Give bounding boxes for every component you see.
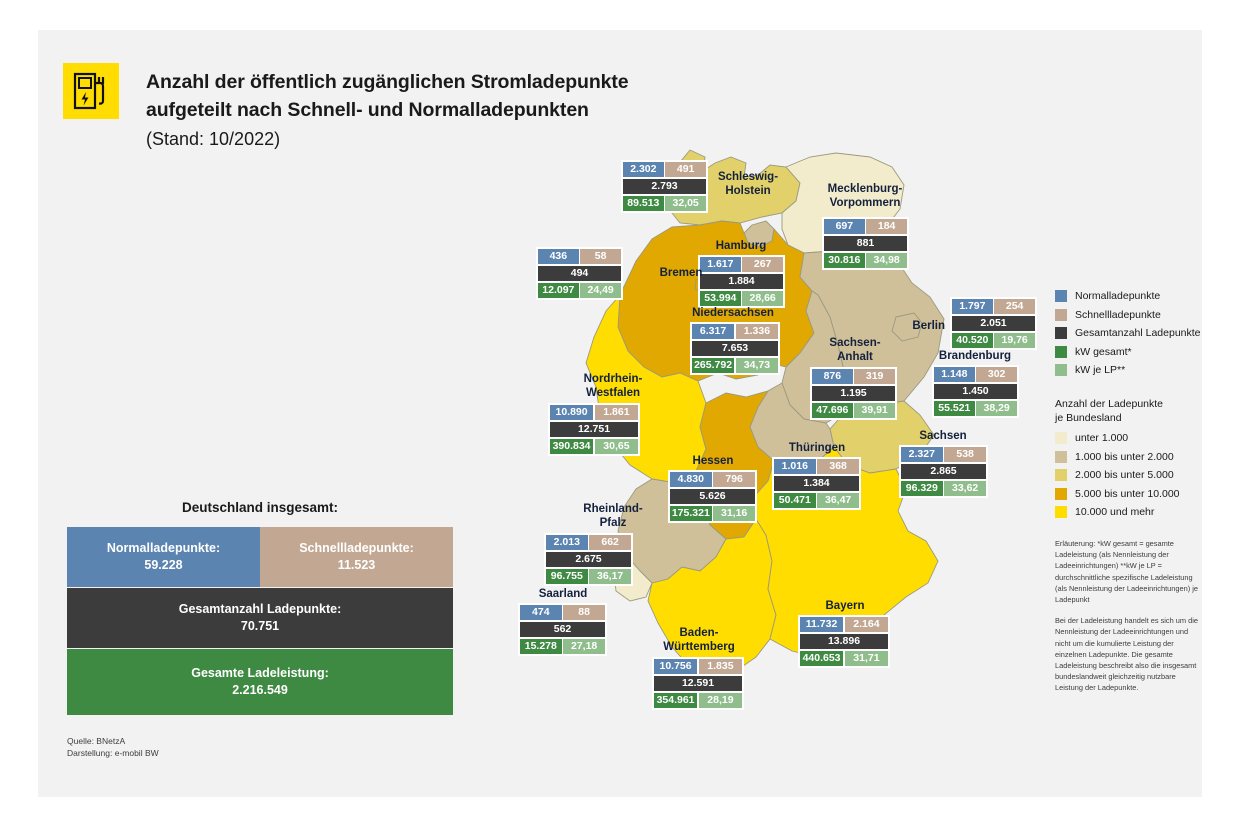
legend-swatch-normal xyxy=(1055,290,1067,302)
total-schnell-label: Schnellladepunkte: xyxy=(264,540,449,557)
value-kw-je-lp: 19,76 xyxy=(994,333,1035,348)
value-kw-gesamt: 354.961 xyxy=(654,693,697,708)
value-kw-gesamt: 96.755 xyxy=(546,569,588,584)
value-gesamt: 494 xyxy=(538,266,621,281)
state-values-hb: 43658 494 12.09724,49 xyxy=(536,247,623,300)
state-label-ni: Niedersachsen xyxy=(668,307,798,321)
value-kw-gesamt: 55.521 xyxy=(934,401,975,416)
total-gesamtanzahl: Gesamtanzahl Ladepunkte: 70.751 xyxy=(67,588,453,648)
legend-series: Normalladepunkte Schnellladepunkte Gesam… xyxy=(1055,290,1205,383)
value-schnell: 2.164 xyxy=(845,617,888,632)
legend-class-5000-10000: 5.000 bis unter 10.000 xyxy=(1055,488,1210,500)
state-values-sn: 2.327538 2.865 96.32933,62 xyxy=(899,445,988,498)
state-label-sn: Sachsen xyxy=(898,430,988,444)
total-normalladepunkte: Normalladepunkte: 59.228 xyxy=(67,527,260,587)
value-schnell: 662 xyxy=(589,535,631,550)
footnote-ladeleistung: Bei der Ladeleistung handelt es sich um … xyxy=(1055,615,1205,693)
value-kw-gesamt: 50.471 xyxy=(774,493,816,508)
value-kw-gesamt: 53.994 xyxy=(700,291,741,306)
legend-class-label: 5.000 bis unter 10.000 xyxy=(1075,488,1180,500)
value-kw-je-lp: 38,29 xyxy=(976,401,1017,416)
value-normal: 6.317 xyxy=(692,324,734,339)
value-schnell: 1.336 xyxy=(736,324,778,339)
source-line-2: Darstellung: e-mobil BW xyxy=(67,747,159,759)
value-normal: 2.302 xyxy=(623,162,664,177)
value-normal: 1.797 xyxy=(952,299,993,314)
legend-swatch-class-5 xyxy=(1055,506,1067,518)
value-gesamt: 562 xyxy=(520,622,605,637)
value-normal: 4.830 xyxy=(670,472,712,487)
legend-swatch-class-2 xyxy=(1055,451,1067,463)
state-values-mv: 697184 881 30.81634,98 xyxy=(822,217,909,270)
legend-class-10000-mehr: 10.000 und mehr xyxy=(1055,506,1210,518)
legend-class-label: 2.000 bis unter 5.000 xyxy=(1075,469,1174,481)
value-schnell: 796 xyxy=(713,472,755,487)
legend-label: Schnellladepunkte xyxy=(1075,309,1161,321)
charging-station-glyph xyxy=(73,71,109,111)
value-normal: 1.016 xyxy=(774,459,816,474)
state-values-hh: 1.617267 1.884 53.99428,66 xyxy=(698,255,785,308)
state-values-st: 876319 1.195 47.69639,91 xyxy=(810,367,897,420)
state-values-nw: 10.8901.861 12.751 390.83430,65 xyxy=(548,403,640,456)
value-kw-je-lp: 31,16 xyxy=(713,506,755,521)
value-gesamt: 2.865 xyxy=(901,464,986,479)
value-normal: 436 xyxy=(538,249,579,264)
state-values-ni: 6.3171.336 7.653 265.79234,73 xyxy=(690,322,780,375)
value-gesamt: 2.675 xyxy=(546,552,631,567)
value-schnell: 368 xyxy=(817,459,859,474)
state-values-bw: 10.7561.835 12.591 354.96128,19 xyxy=(652,657,744,710)
legend-item-kw-gesamt: kW gesamt* xyxy=(1055,346,1205,358)
total-gesamt-value: 70.751 xyxy=(71,618,449,635)
legend-swatch-class-1 xyxy=(1055,432,1067,444)
source-line-1: Quelle: BNetzA xyxy=(67,735,159,747)
state-values-be: 1.797254 2.051 40.52019,76 xyxy=(950,297,1037,350)
value-kw-gesamt: 89.513 xyxy=(623,196,664,211)
title-line-1: Anzahl der öffentlich zugänglichen Strom… xyxy=(146,68,766,96)
footnote-explanation: Erläuterung: *kW gesamt = gesamte Ladele… xyxy=(1055,538,1205,605)
legend-swatch-class-3 xyxy=(1055,469,1067,481)
legend-swatch-schnell xyxy=(1055,309,1067,321)
footnotes: Erläuterung: *kW gesamt = gesamte Ladele… xyxy=(1055,538,1205,694)
value-kw-je-lp: 28,19 xyxy=(699,693,742,708)
value-kw-je-lp: 24,49 xyxy=(580,283,621,298)
value-normal: 474 xyxy=(520,605,562,620)
legend-class-label: 1.000 bis unter 2.000 xyxy=(1075,451,1174,463)
value-schnell: 88 xyxy=(563,605,605,620)
value-kw-gesamt: 265.792 xyxy=(692,358,734,373)
value-kw-gesamt: 40.520 xyxy=(952,333,993,348)
value-normal: 1.148 xyxy=(934,367,975,382)
legend-item-schnellladepunkte: Schnellladepunkte xyxy=(1055,309,1205,321)
legend-item-normalladepunkte: Normalladepunkte xyxy=(1055,290,1205,302)
value-normal: 11.732 xyxy=(800,617,843,632)
value-kw-je-lp: 36,17 xyxy=(589,569,631,584)
legend-item-kw-je-lp: kW je LP** xyxy=(1055,364,1205,376)
legend-label: Gesamtanzahl Ladepunkte xyxy=(1075,327,1201,339)
value-kw-gesamt: 12.097 xyxy=(538,283,579,298)
total-schnell-value: 11.523 xyxy=(264,557,449,574)
value-gesamt: 2.793 xyxy=(623,179,706,194)
legend-classes-title: Anzahl der Ladepunkte je Bundesland xyxy=(1055,398,1210,425)
legend-class-unter-1000: unter 1.000 xyxy=(1055,432,1210,444)
value-kw-gesamt: 175.321 xyxy=(670,506,712,521)
value-normal: 10.756 xyxy=(654,659,697,674)
value-normal: 697 xyxy=(824,219,865,234)
legend-label: Normalladepunkte xyxy=(1075,290,1160,302)
value-kw-je-lp: 39,91 xyxy=(854,403,895,418)
value-normal: 876 xyxy=(812,369,853,384)
value-kw-je-lp: 34,73 xyxy=(736,358,778,373)
legend-swatch-kw-je-lp xyxy=(1055,364,1067,376)
legend-class-1000-2000: 1.000 bis unter 2.000 xyxy=(1055,451,1210,463)
value-schnell: 538 xyxy=(944,447,986,462)
total-normal-label: Normalladepunkte: xyxy=(71,540,256,557)
value-kw-gesamt: 96.329 xyxy=(901,481,943,496)
value-gesamt: 12.591 xyxy=(654,676,742,691)
value-kw-je-lp: 36,47 xyxy=(817,493,859,508)
total-gesamt-label: Gesamtanzahl Ladepunkte: xyxy=(71,601,449,618)
state-label-sl: Saarland xyxy=(518,588,608,602)
state-label-th: Thüringen xyxy=(772,442,862,456)
legend-classes: Anzahl der Ladepunkte je Bundesland unte… xyxy=(1055,398,1210,525)
legend-label: kW gesamt* xyxy=(1075,346,1132,358)
value-gesamt: 1.195 xyxy=(812,386,895,401)
state-label-sh: Schleswig- Holstein xyxy=(700,171,796,198)
value-normal: 10.890 xyxy=(550,405,593,420)
value-gesamt: 1.450 xyxy=(934,384,1017,399)
state-values-bb: 1.148302 1.450 55.52138,29 xyxy=(932,365,1019,418)
total-schnellladepunkte: Schnellladepunkte: 11.523 xyxy=(260,527,453,587)
total-leistung-value: 2.216.549 xyxy=(71,682,449,699)
state-label-hh: Hamburg xyxy=(691,240,791,254)
state-label-he: Hessen xyxy=(668,455,758,469)
value-schnell: 58 xyxy=(580,249,621,264)
value-gesamt: 12.751 xyxy=(550,422,638,437)
value-schnell: 1.835 xyxy=(699,659,742,674)
value-kw-je-lp: 27,18 xyxy=(563,639,605,654)
state-label-be: Berlin xyxy=(885,320,945,334)
value-schnell: 184 xyxy=(866,219,907,234)
germany-totals: Deutschland insgesamt: Normalladepunkte:… xyxy=(67,500,453,715)
value-kw-gesamt: 30.816 xyxy=(824,253,865,268)
state-label-nw: Nordrhein- Westfalen xyxy=(553,373,673,400)
value-schnell: 1.861 xyxy=(595,405,638,420)
value-kw-gesamt: 440.653 xyxy=(800,651,843,666)
charging-station-icon xyxy=(63,63,119,119)
value-kw-gesamt: 47.696 xyxy=(812,403,853,418)
legend-class-2000-5000: 2.000 bis unter 5.000 xyxy=(1055,469,1210,481)
germany-map: Schleswig- Holstein 2.302491 2.793 89.51… xyxy=(500,105,1040,765)
value-schnell: 491 xyxy=(665,162,706,177)
value-kw-gesamt: 15.278 xyxy=(520,639,562,654)
legend-item-gesamtanzahl: Gesamtanzahl Ladepunkte xyxy=(1055,327,1205,339)
value-schnell: 319 xyxy=(854,369,895,384)
state-label-rp: Rheinland- Pfalz xyxy=(558,503,668,530)
state-label-bb: Brandenburg xyxy=(920,350,1030,364)
legend-class-label: unter 1.000 xyxy=(1075,432,1128,444)
value-normal: 2.327 xyxy=(901,447,943,462)
value-normal: 2.013 xyxy=(546,535,588,550)
value-schnell: 254 xyxy=(994,299,1035,314)
legend-swatch-gesamt xyxy=(1055,327,1067,339)
state-values-sl: 47488 562 15.27827,18 xyxy=(518,603,607,656)
source-note: Quelle: BNetzA Darstellung: e-mobil BW xyxy=(67,735,159,759)
total-leistung-label: Gesamte Ladeleistung: xyxy=(71,665,449,682)
total-ladeleistung: Gesamte Ladeleistung: 2.216.549 xyxy=(67,649,453,715)
value-gesamt: 881 xyxy=(824,236,907,251)
value-kw-je-lp: 33,62 xyxy=(944,481,986,496)
totals-heading: Deutschland insgesamt: xyxy=(67,500,453,515)
state-values-th: 1.016368 1.384 50.47136,47 xyxy=(772,457,861,510)
state-values-by: 11.7322.164 13.896 440.65331,71 xyxy=(798,615,890,668)
value-gesamt: 1.384 xyxy=(774,476,859,491)
state-label-mv: Mecklenburg- Vorpommern xyxy=(805,183,925,210)
total-normal-value: 59.228 xyxy=(71,557,256,574)
value-kw-je-lp: 34,98 xyxy=(866,253,907,268)
state-values-he: 4.830796 5.626 175.32131,16 xyxy=(668,470,757,523)
value-schnell: 267 xyxy=(742,257,783,272)
value-gesamt: 7.653 xyxy=(692,341,778,356)
value-kw-je-lp: 31,71 xyxy=(845,651,888,666)
value-kw-je-lp: 28,66 xyxy=(742,291,783,306)
legend-class-label: 10.000 und mehr xyxy=(1075,506,1154,518)
state-label-st: Sachsen- Anhalt xyxy=(810,337,900,364)
state-label-by: Bayern xyxy=(800,600,890,614)
state-label-bw: Baden- Württemberg xyxy=(640,627,758,654)
value-kw-gesamt: 390.834 xyxy=(550,439,593,454)
totals-row-top: Normalladepunkte: 59.228 Schnellladepunk… xyxy=(67,527,453,587)
state-values-rp: 2.013662 2.675 96.75536,17 xyxy=(544,533,633,586)
value-gesamt: 5.626 xyxy=(670,489,755,504)
state-values-sh: 2.302491 2.793 89.51332,05 xyxy=(621,160,708,213)
legend-swatch-class-4 xyxy=(1055,488,1067,500)
value-kw-je-lp: 32,05 xyxy=(665,196,706,211)
infographic-root: Anzahl der öffentlich zugänglichen Strom… xyxy=(0,0,1240,827)
legend-label: kW je LP** xyxy=(1075,364,1125,376)
value-kw-je-lp: 30,65 xyxy=(595,439,638,454)
legend-swatch-kw-gesamt xyxy=(1055,346,1067,358)
value-gesamt: 2.051 xyxy=(952,316,1035,331)
value-schnell: 302 xyxy=(976,367,1017,382)
state-label-hb: Bremen xyxy=(641,267,721,281)
value-gesamt: 13.896 xyxy=(800,634,888,649)
